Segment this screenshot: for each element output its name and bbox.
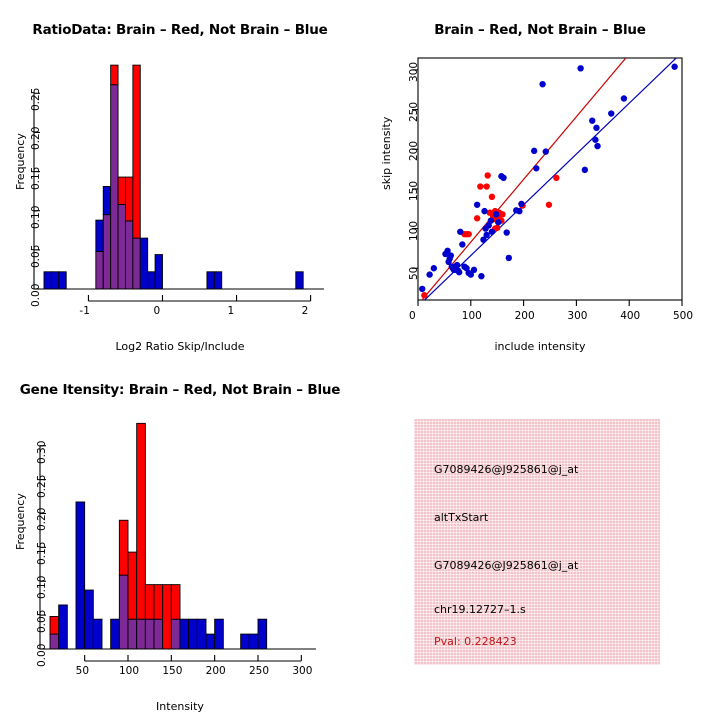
ytick-gene_histogram-5: 0.25 xyxy=(36,474,48,497)
ytick-ratio_histogram-3: 0.15 xyxy=(30,166,42,189)
scatter-ytick-3: 200 xyxy=(408,141,420,161)
xtick-ratio_histogram-1: 0 xyxy=(153,305,160,317)
ytick-gene_histogram-6: 0.30 xyxy=(36,440,48,463)
ytick-gene_histogram-0: 0.00 xyxy=(36,644,48,667)
ytick-gene_histogram-3: 0.15 xyxy=(36,542,48,565)
xtick-gene_histogram-4: 250 xyxy=(249,665,269,677)
scatter-ytick-1: 100 xyxy=(408,221,420,241)
ytick-ratio_histogram-5: 0.25 xyxy=(30,88,42,111)
info-box: G7089426@J925861@j_at altTxStart G708942… xyxy=(414,419,660,665)
info-coordinate: chr19.12727–1.s xyxy=(434,603,526,616)
scatter-xtick-5: 500 xyxy=(673,310,693,322)
ytick-ratio_histogram-0: 0.00 xyxy=(30,284,42,307)
scatter-ytick-0: 50 xyxy=(408,267,420,280)
xtick-ratio_histogram-3: 2 xyxy=(302,305,309,317)
ratio-histogram-bars xyxy=(44,65,303,289)
scatter-xtick-0: 0 xyxy=(409,310,416,322)
panel-info: G7089426@J925861@j_at altTxStart G708942… xyxy=(360,360,720,720)
ytick-ratio_histogram-1: 0.05 xyxy=(30,244,42,267)
ytick-gene_histogram-1: 0.05 xyxy=(36,610,48,633)
info-event-type: altTxStart xyxy=(434,511,488,524)
scatter-xtick-2: 200 xyxy=(515,310,535,322)
scatter-ytick-2: 150 xyxy=(408,181,420,201)
scatter-xtick-4: 400 xyxy=(620,310,640,322)
xtick-gene_histogram-3: 200 xyxy=(206,665,226,677)
info-probeset-id-2: G7089426@J925861@j_at xyxy=(434,559,578,572)
ytick-ratio_histogram-4: 0.20 xyxy=(30,127,42,150)
figure-canvas: RatioData: Brain – Red, Not Brain – Blue… xyxy=(0,0,720,720)
panel-scatter: Brain – Red, Not Brain – Blue include in… xyxy=(360,0,720,360)
info-probeset-id: G7089426@J925861@j_at xyxy=(434,463,578,476)
panel-gene-histogram: Gene Itensity: Brain – Red, Not Brain – … xyxy=(0,360,360,720)
ytick-gene_histogram-2: 0.10 xyxy=(36,576,48,599)
xtick-gene_histogram-5: 300 xyxy=(292,665,312,677)
xtick-gene_histogram-1: 100 xyxy=(119,665,139,677)
ratio-histogram-axes xyxy=(34,93,324,301)
xtick-ratio_histogram-2: 1 xyxy=(228,305,235,317)
scatter-fit-lines xyxy=(418,0,682,306)
scatter-xtick-3: 300 xyxy=(567,310,587,322)
ytick-ratio_histogram-2: 0.10 xyxy=(30,205,42,228)
panel-ratio-histogram: RatioData: Brain – Red, Not Brain – Blue… xyxy=(0,0,360,360)
xtick-gene_histogram-0: 50 xyxy=(76,665,89,677)
xtick-ratio_histogram-0: -1 xyxy=(79,305,89,317)
gene-histogram-bars xyxy=(50,423,267,649)
scatter-ytick-4: 250 xyxy=(408,102,420,122)
ytick-gene_histogram-4: 0.20 xyxy=(36,508,48,531)
scatter-xtick-1: 100 xyxy=(462,310,482,322)
info-pval: Pval: 0.228423 xyxy=(434,635,517,648)
scatter-ytick-5: 300 xyxy=(408,62,420,82)
xtick-gene_histogram-2: 150 xyxy=(162,665,182,677)
